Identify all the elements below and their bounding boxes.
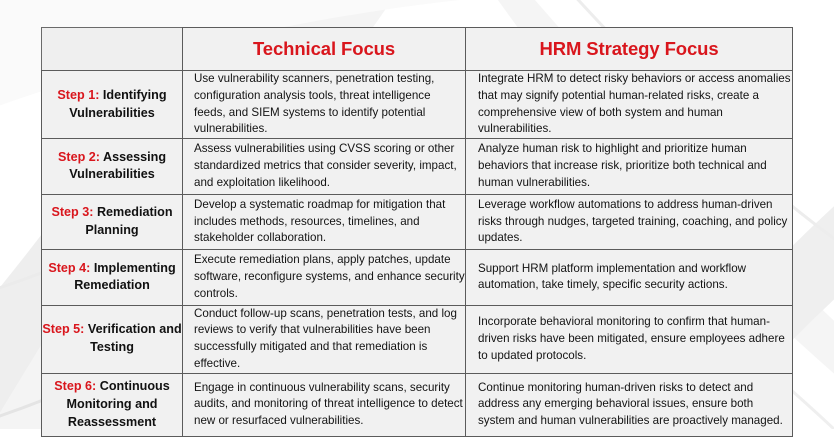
step-number-3: Step 3: <box>51 205 93 219</box>
step-number-2: Step 2: <box>58 150 100 164</box>
header-corner-cell <box>42 28 183 71</box>
step-number-1: Step 1: <box>57 88 99 102</box>
hrm-strategy-cell-6: Continue monitoring human-driven risks t… <box>466 373 793 436</box>
table-header-row: Technical Focus HRM Strategy Focus <box>42 28 793 71</box>
hrm-strategy-cell-5: Incorporate behavioral monitoring to con… <box>466 305 793 373</box>
technical-vs-hrm-table: Technical Focus HRM Strategy Focus Step … <box>41 27 793 437</box>
step-label-cell-1: Step 1: Identifying Vulnerabilities <box>42 71 183 139</box>
table-row: Step 6: Continuous Monitoring and Reasse… <box>42 373 793 436</box>
table-row: Step 3: Remediation Planning Develop a s… <box>42 194 793 250</box>
table-row: Step 5: Verification and Testing Conduct… <box>42 305 793 373</box>
step-number-5: Step 5: <box>42 322 84 336</box>
step-number-4: Step 4: <box>48 261 90 275</box>
technical-focus-cell-2: Assess vulnerabilities using CVSS scorin… <box>183 139 466 195</box>
comparison-table-container: Technical Focus HRM Strategy Focus Step … <box>41 27 792 404</box>
column-header-technical-focus: Technical Focus <box>183 28 466 71</box>
table-row: Step 4: Implementing Remediation Execute… <box>42 250 793 306</box>
step-title-3: Remediation Planning <box>85 205 172 237</box>
step-title-4: Implementing Remediation <box>74 261 175 293</box>
technical-focus-cell-6: Engage in continuous vulnerability scans… <box>183 373 466 436</box>
step-label-cell-2: Step 2: Assessing Vulnerabilities <box>42 139 183 195</box>
technical-focus-cell-3: Develop a systematic roadmap for mitigat… <box>183 194 466 250</box>
table-row: Step 2: Assessing Vulnerabilities Assess… <box>42 139 793 195</box>
table-row: Step 1: Identifying Vulnerabilities Use … <box>42 71 793 139</box>
column-header-hrm-strategy-focus: HRM Strategy Focus <box>466 28 793 71</box>
step-label-cell-6: Step 6: Continuous Monitoring and Reasse… <box>42 373 183 436</box>
technical-focus-cell-4: Execute remediation plans, apply patches… <box>183 250 466 306</box>
step-label-cell-5: Step 5: Verification and Testing <box>42 305 183 373</box>
step-label-cell-3: Step 3: Remediation Planning <box>42 194 183 250</box>
step-number-6: Step 6: <box>54 379 96 393</box>
step-label-cell-4: Step 4: Implementing Remediation <box>42 250 183 306</box>
technical-focus-cell-5: Conduct follow-up scans, penetration tes… <box>183 305 466 373</box>
technical-focus-cell-1: Use vulnerability scanners, penetration … <box>183 71 466 139</box>
hrm-strategy-cell-1: Integrate HRM to detect risky behaviors … <box>466 71 793 139</box>
hrm-strategy-cell-3: Leverage workflow automations to address… <box>466 194 793 250</box>
step-title-5: Verification and Testing <box>88 322 182 354</box>
hrm-strategy-cell-4: Support HRM platform implementation and … <box>466 250 793 306</box>
hrm-strategy-cell-2: Analyze human risk to highlight and prio… <box>466 139 793 195</box>
